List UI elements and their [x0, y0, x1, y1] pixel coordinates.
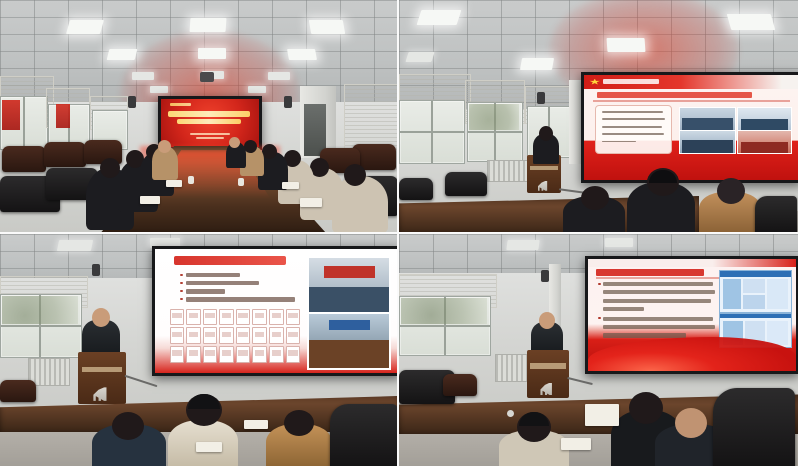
slide-photo — [737, 107, 793, 131]
slide-photo — [307, 312, 391, 369]
certificate-thumb — [203, 309, 218, 326]
ceiling-lamp — [607, 38, 646, 52]
ceiling-lamp — [605, 238, 633, 247]
window-tree-reflection — [469, 104, 519, 130]
slide — [584, 75, 798, 180]
ceiling-lamp — [309, 20, 345, 34]
slide-text-line — [603, 325, 715, 329]
certificate-thumb — [186, 346, 201, 363]
notepad — [282, 182, 299, 189]
slide-text-line — [602, 126, 662, 128]
slide-divider — [593, 100, 791, 102]
panel-bottom-right[interactable]: 述职人在讲台汇报，LED屏显示工作开展情况与系统截图 — [399, 233, 798, 466]
panel-bottom-left[interactable]: 发言人在讲台后汇报，LED屏显示中央八项规定精神学习教育内容 — [0, 233, 399, 466]
slide-bullet — [186, 281, 259, 285]
photo-crowd — [741, 119, 788, 130]
notepad — [561, 438, 591, 450]
window-blind — [344, 84, 399, 150]
led-screen-content — [161, 99, 259, 147]
photo-collage: 会议全景：长条会议桌两侧与会人员，前方LED大屏显示会议主题 — [0, 0, 798, 466]
chair — [445, 172, 487, 196]
slide-text-line — [603, 282, 713, 286]
window-mullion — [23, 97, 25, 149]
chair — [2, 146, 46, 172]
slide-text-line — [603, 307, 645, 311]
slide-text-line — [602, 118, 665, 120]
certificate-thumb — [170, 309, 185, 326]
slide-title-highlight — [596, 269, 704, 276]
panel-top-right[interactable]: 述职人站在发言席前汇报，右侧为LED屏显示的汇报PPT — [399, 0, 798, 233]
wall-speaker — [537, 92, 545, 104]
attendee-head — [629, 392, 663, 424]
podium-emblem-icon — [538, 181, 550, 191]
certificate-thumb — [286, 309, 301, 326]
chair — [0, 380, 36, 402]
certificate-thumb — [252, 309, 267, 326]
speaker-head — [539, 126, 553, 141]
attendee-head — [100, 158, 120, 178]
wall-speaker — [92, 264, 100, 276]
attendee-head — [344, 164, 366, 186]
certificate-thumb — [219, 309, 234, 326]
slide-text-line — [603, 317, 713, 321]
wall-speaker — [541, 270, 549, 282]
slide-decoration-wave — [588, 337, 796, 371]
notepad — [300, 198, 322, 207]
bullet-dot — [180, 282, 183, 284]
slide-title-highlight — [174, 256, 285, 265]
certificate-thumb — [203, 327, 218, 344]
ceiling-lamp — [107, 49, 138, 60]
ceiling-lamp — [150, 86, 168, 93]
chair — [755, 196, 797, 233]
notepad — [140, 196, 160, 204]
window-mullion — [400, 131, 464, 133]
bullet-dot — [180, 290, 183, 292]
bullet-dot — [180, 298, 183, 300]
slide-title-highlight — [597, 92, 752, 98]
banner-line-1 — [168, 111, 250, 116]
slide-text-line — [603, 299, 711, 303]
certificate-thumb — [219, 327, 234, 344]
led-screen-content — [584, 75, 798, 180]
attendee-head — [581, 186, 609, 210]
slide — [588, 259, 796, 371]
ceiling-lamp — [132, 72, 154, 80]
certificate-thumb — [252, 346, 267, 363]
panel-top-left[interactable]: 会议全景：长条会议桌两侧与会人员，前方LED大屏显示会议主题 — [0, 0, 399, 233]
slide — [155, 249, 397, 373]
ceiling-lamp — [268, 72, 290, 80]
speaker-head — [92, 308, 110, 327]
certificate-thumb — [170, 346, 185, 363]
ceiling-lamp — [198, 48, 226, 59]
notepad — [166, 180, 182, 187]
certificate-thumb — [203, 346, 218, 363]
notepad — [585, 404, 619, 426]
photo-crowd — [682, 118, 733, 129]
certificate-thumb — [236, 309, 251, 326]
ceiling-lamp — [520, 58, 554, 70]
slide-text-line — [602, 133, 664, 135]
slide-text-line — [603, 290, 715, 294]
attendee-head — [158, 140, 171, 153]
window — [399, 100, 465, 164]
bullet-dot — [598, 283, 600, 285]
led-screen[interactable] — [152, 246, 399, 376]
chair — [443, 374, 477, 396]
led-screen[interactable] — [585, 256, 798, 374]
chair — [44, 142, 86, 167]
attendee-head — [262, 144, 277, 159]
slide-text-line — [602, 141, 637, 143]
slide-section-title — [603, 79, 659, 84]
certificate-grid — [170, 309, 301, 364]
water-cup — [238, 178, 244, 186]
certificate-thumb — [186, 327, 201, 344]
ceiling-lamp — [727, 14, 776, 30]
microphone — [507, 410, 514, 417]
banner-line-2 — [177, 119, 242, 124]
banner-subline-1 — [190, 133, 229, 135]
attendee-head — [284, 410, 314, 436]
slide-photo — [737, 130, 793, 154]
chair — [713, 388, 795, 466]
podium-emblem-icon — [540, 383, 555, 395]
certificate-thumb — [219, 346, 234, 363]
slide-photo — [679, 107, 737, 131]
screenshot-titlebar — [720, 314, 791, 319]
attendee-head — [244, 140, 257, 153]
window-tree-reflection — [2, 296, 78, 324]
org-logo — [170, 103, 192, 106]
slide-photo — [679, 130, 737, 154]
certificate-thumb — [269, 346, 284, 363]
window-tree-reflection — [401, 298, 487, 324]
ceiling-lamp — [66, 20, 104, 34]
banner-subline-2 — [196, 137, 223, 139]
window-mullion — [400, 325, 490, 327]
certificate-thumb — [286, 346, 301, 363]
slide-photo — [307, 256, 391, 313]
podium-name-plate — [82, 367, 122, 373]
slide-bullet — [186, 297, 295, 301]
certificate-thumb — [269, 327, 284, 344]
certificate-thumb — [236, 346, 251, 363]
wall-speaker — [284, 96, 292, 108]
window-mullion — [1, 325, 81, 327]
podium — [527, 350, 569, 398]
chair — [330, 404, 398, 466]
certificate-thumb — [269, 309, 284, 326]
certificate-thumb — [286, 327, 301, 344]
photo-crowd — [682, 140, 733, 153]
led-screen-content — [155, 249, 397, 373]
notepad — [244, 420, 268, 429]
slide-bullet — [186, 289, 225, 293]
podium-name-plate — [530, 363, 565, 368]
slide-bullet — [186, 273, 239, 277]
attendee-head — [112, 412, 144, 440]
ceiling-lamp — [417, 10, 462, 25]
water-cup — [188, 176, 194, 184]
podium-name-plate — [530, 166, 559, 170]
slide-text-box — [595, 105, 672, 153]
attendee-head — [229, 137, 240, 148]
attendee-head — [717, 178, 745, 204]
ceiling-lamp — [287, 49, 317, 60]
photo-crowd — [741, 142, 788, 153]
certificate-thumb — [170, 327, 185, 344]
led-screen[interactable] — [581, 72, 798, 183]
ceiling-lamp — [57, 240, 93, 251]
slide-top-strip — [588, 259, 796, 267]
certificate-thumb — [252, 327, 267, 344]
slide-text-line — [602, 111, 664, 113]
system-screenshot — [719, 270, 792, 312]
chair — [399, 178, 433, 200]
notepad — [196, 442, 222, 452]
wall-poster — [2, 100, 20, 130]
ceiling-lamp — [190, 18, 227, 32]
window-mullion — [468, 131, 522, 133]
banner-background — [161, 99, 259, 147]
bullet-dot — [180, 274, 183, 276]
projector — [200, 72, 214, 82]
speaker-head — [539, 312, 555, 329]
wall-speaker — [128, 96, 136, 108]
bullet-dot — [598, 317, 600, 319]
podium — [78, 352, 126, 404]
podium-emblem-icon — [93, 387, 110, 401]
screenshot-titlebar — [720, 271, 791, 277]
certificate-thumb — [186, 309, 201, 326]
slide-text-line — [603, 333, 686, 337]
certificate-thumb — [236, 327, 251, 344]
attendee-head — [675, 408, 707, 438]
ceiling-lamp — [248, 86, 266, 93]
wall-poster — [56, 104, 70, 128]
ceiling-lamp — [506, 240, 539, 250]
ceiling-lamp — [405, 52, 434, 62]
led-screen-content — [588, 259, 796, 371]
